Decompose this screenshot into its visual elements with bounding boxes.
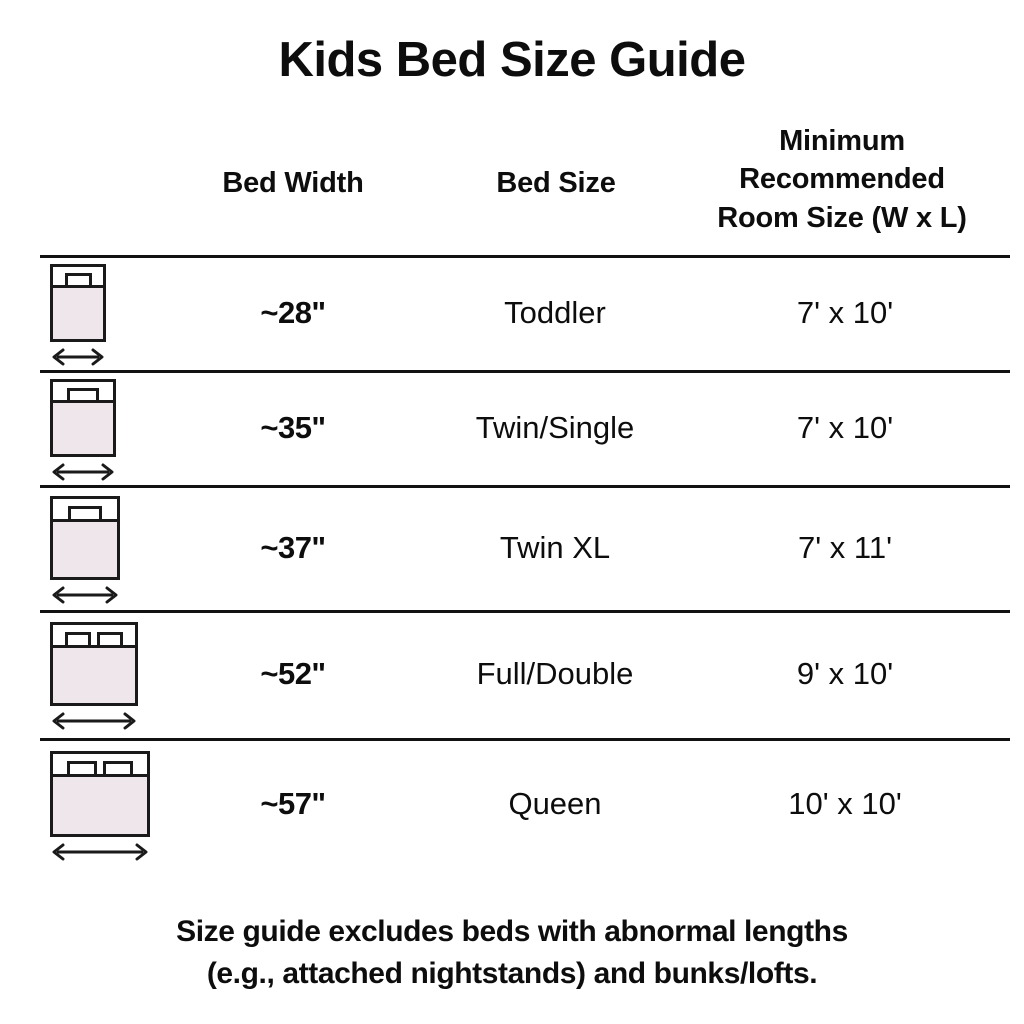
cell-bed-width: ~57" — [168, 786, 418, 822]
cell-bed-width: ~52" — [168, 656, 418, 692]
bed-mattress-shape — [50, 751, 150, 837]
table-row: ~28"Toddler7' x 10' — [0, 255, 1024, 370]
rule-left-inset — [0, 370, 40, 373]
rule-right-inset — [1010, 485, 1024, 488]
footer-note: Size guide excludes beds with abnormal l… — [0, 911, 1024, 996]
rule-right-inset — [1010, 610, 1024, 613]
bed-size-table: ~28"Toddler7' x 10'~35"Twin/Single7' x 1… — [0, 255, 1024, 870]
rule-left-inset — [0, 485, 40, 488]
table-header-row: Bed Width Bed Size Minimum Recommended R… — [0, 118, 1024, 243]
toddler-bed-icon — [50, 264, 106, 367]
cell-room-size: 7' x 11' — [690, 530, 1000, 566]
twin-xl-bed-icon — [50, 496, 120, 605]
rule-right-inset — [1010, 738, 1024, 741]
width-arrow-icon — [50, 347, 106, 367]
full-double-bed-icon — [50, 622, 138, 731]
column-header-room-size: Minimum Recommended Room Size (W x L) — [672, 122, 1012, 237]
pillow-icon — [65, 273, 92, 285]
width-arrow-icon — [50, 711, 138, 731]
width-arrow-icon — [50, 585, 120, 605]
rule-right-inset — [1010, 255, 1024, 258]
bed-headboard-band — [53, 754, 147, 777]
table-row: ~57"Queen10' x 10' — [0, 738, 1024, 870]
pillow-icon — [97, 632, 123, 645]
bed-mattress-shape — [50, 496, 120, 580]
width-arrow-icon — [50, 462, 116, 482]
queen-bed-icon — [50, 751, 150, 862]
cell-bed-width: ~37" — [168, 530, 418, 566]
bed-headboard-band — [53, 267, 103, 288]
bed-mattress-shape — [50, 264, 106, 342]
footer-note-line1: Size guide excludes beds with abnormal l… — [40, 911, 984, 954]
cell-room-size: 9' x 10' — [690, 656, 1000, 692]
column-header-bed-width: Bed Width — [168, 164, 418, 202]
rule-left-inset — [0, 738, 40, 741]
cell-room-size: 7' x 10' — [690, 295, 1000, 331]
table-row: ~52"Full/Double9' x 10' — [0, 610, 1024, 738]
cell-room-size: 10' x 10' — [690, 786, 1000, 822]
pillow-icon — [65, 632, 91, 645]
twin-bed-icon — [50, 379, 116, 482]
bed-headboard-band — [53, 499, 117, 522]
table-row: ~35"Twin/Single7' x 10' — [0, 370, 1024, 485]
bed-mattress-shape — [50, 622, 138, 706]
bed-headboard-band — [53, 625, 135, 648]
column-header-room-size-line2: Recommended — [672, 160, 1012, 198]
page-title: Kids Bed Size Guide — [0, 36, 1024, 85]
rule-right-inset — [1010, 370, 1024, 373]
cell-bed-size: Twin XL — [430, 530, 680, 566]
column-header-room-size-line1: Minimum — [672, 122, 1012, 160]
cell-bed-size: Twin/Single — [430, 410, 680, 446]
width-arrow-icon — [50, 842, 150, 862]
bed-mattress-shape — [50, 379, 116, 457]
cell-bed-size: Full/Double — [430, 656, 680, 692]
footer-note-line2: (e.g., attached nightstands) and bunks/l… — [40, 953, 984, 996]
pillow-icon — [103, 761, 133, 774]
column-header-bed-size: Bed Size — [440, 164, 672, 202]
bed-headboard-band — [53, 382, 113, 403]
table-row: ~37"Twin XL7' x 11' — [0, 485, 1024, 610]
bed-size-guide-page: Kids Bed Size Guide Bed Width Bed Size M… — [0, 0, 1024, 1024]
column-header-room-size-line3: Room Size (W x L) — [672, 199, 1012, 237]
cell-bed-size: Toddler — [430, 295, 680, 331]
pillow-icon — [67, 761, 97, 774]
cell-bed-width: ~35" — [168, 410, 418, 446]
rule-left-inset — [0, 610, 40, 613]
pillow-icon — [68, 506, 102, 519]
cell-bed-size: Queen — [430, 786, 680, 822]
pillow-icon — [67, 388, 99, 400]
rule-left-inset — [0, 255, 40, 258]
cell-bed-width: ~28" — [168, 295, 418, 331]
cell-room-size: 7' x 10' — [690, 410, 1000, 446]
